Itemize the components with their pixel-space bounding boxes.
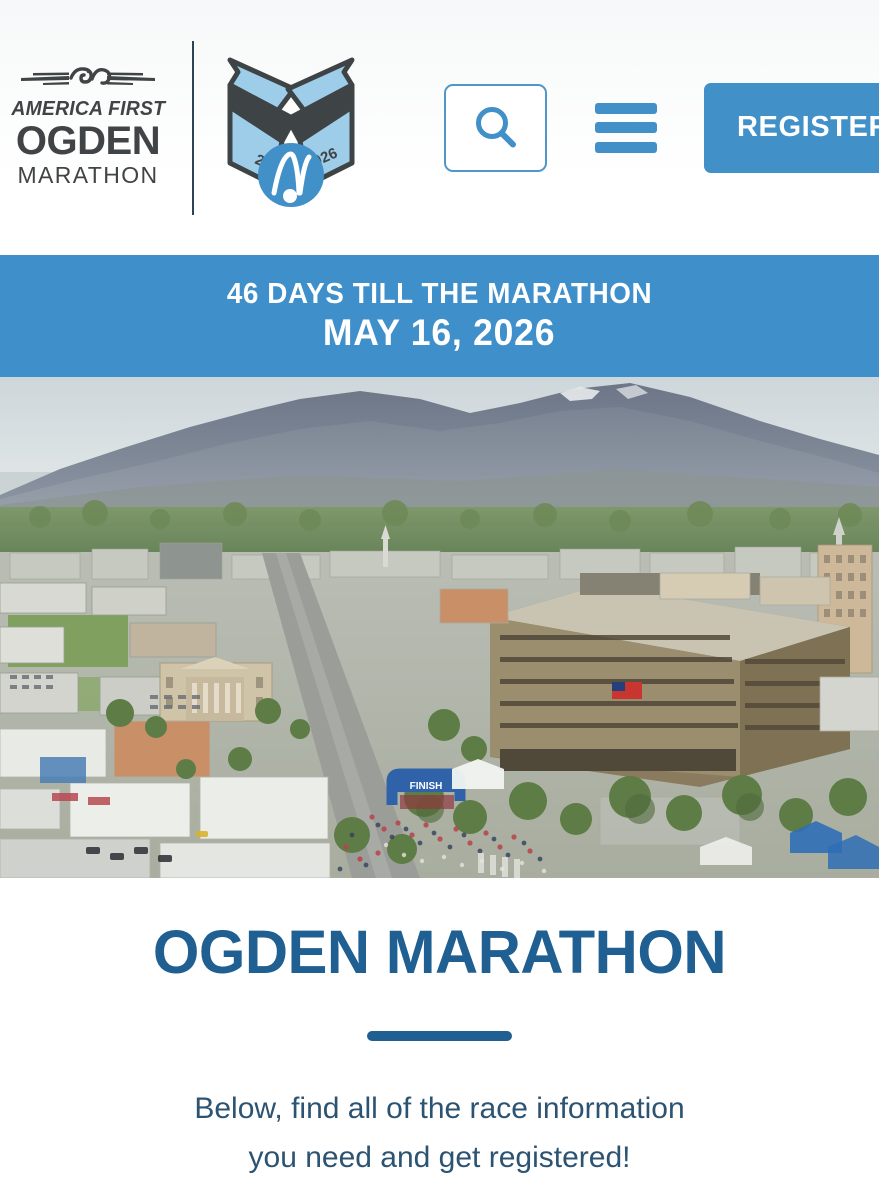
logo-name-line: OGDEN — [16, 121, 160, 161]
logo-type-line: MARATHON — [17, 163, 158, 188]
intro-section: OGDEN MARATHON Below, find all of the ra… — [0, 878, 879, 1200]
section-divider — [367, 1031, 512, 1041]
countdown-days-text: 46 DAYS TILL THE MARATHON — [227, 278, 652, 311]
hamburger-menu-button[interactable] — [595, 103, 657, 153]
hamburger-bar-1 — [595, 103, 657, 114]
header-actions: REGISTER — [444, 83, 879, 173]
countdown-banner: 46 DAYS TILL THE MARATHON MAY 16, 2026 — [0, 255, 879, 377]
hamburger-bar-2 — [595, 122, 657, 133]
intro-subtitle: Below, find all of the race information … — [194, 1085, 684, 1182]
search-icon — [469, 101, 523, 155]
intro-subtitle-line-1: Below, find all of the race information — [194, 1092, 684, 1125]
wing-icon — [13, 66, 163, 97]
brand-block: AMERICA FIRST OGDEN MARATHON — [0, 0, 366, 255]
intro-subtitle-line-2: you need and get registered! — [249, 1141, 631, 1174]
medal-logo-link[interactable]: 2001 2026 — [216, 45, 366, 210]
finish-sign-text: FINISH — [410, 781, 443, 792]
logo-wordmark[interactable]: AMERICA FIRST OGDEN MARATHON — [8, 66, 168, 188]
header-vertical-divider — [192, 41, 194, 215]
countdown-date-text: MAY 16, 2026 — [323, 312, 555, 355]
hamburger-bar-3 — [595, 142, 657, 153]
page-root: AMERICA FIRST OGDEN MARATHON — [0, 0, 879, 1200]
hero-aerial-photo: FINISH — [0, 377, 879, 878]
site-header: AMERICA FIRST OGDEN MARATHON — [0, 0, 879, 255]
logo-sponsor-line: AMERICA FIRST — [11, 99, 165, 120]
medal-ribbon-icon: 2001 2026 — [216, 45, 366, 210]
hero-image: FINISH — [0, 377, 879, 878]
register-button[interactable]: REGISTER — [704, 83, 879, 173]
page-title: OGDEN MARATHON — [153, 920, 726, 984]
finish-line-arch: FINISH — [392, 774, 460, 809]
search-button[interactable] — [444, 84, 547, 172]
